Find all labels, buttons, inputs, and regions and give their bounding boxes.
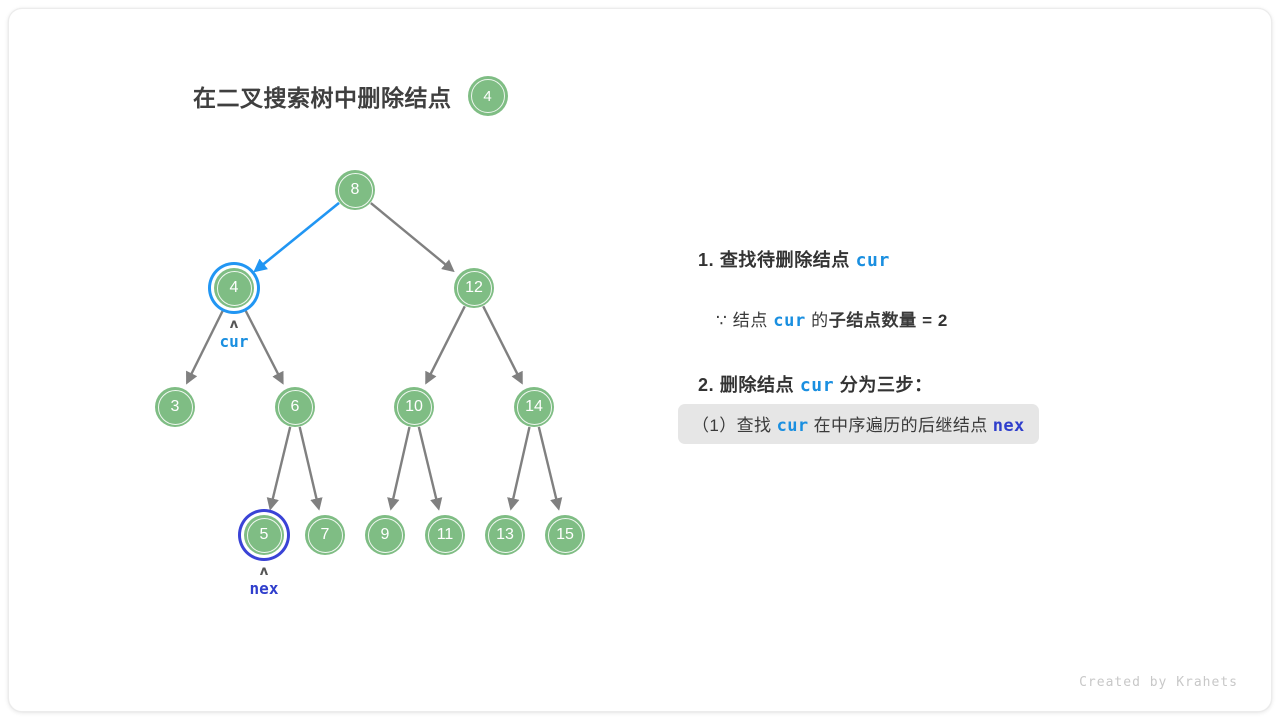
step-2-var-cur: cur (800, 375, 834, 396)
step-1-line: 1. 查找待删除结点 cur (698, 246, 890, 272)
tree-node-value: 4 (230, 280, 239, 296)
tree-node-value: 15 (556, 527, 574, 543)
reason-emphasis: 子结点数量 (829, 311, 917, 330)
tree-node-4[interactable]: 4 (214, 268, 254, 308)
tree-node-value: 6 (291, 399, 300, 415)
tree-node-10[interactable]: 10 (394, 387, 434, 427)
tree-node-value: 7 (321, 527, 330, 543)
substep-1-index: （1） (692, 416, 737, 435)
reason-operator: = (922, 311, 933, 330)
step-2-line: 2. 删除结点 cur 分为三步： (698, 371, 933, 397)
step-2-suffix: 分为三步： (840, 375, 933, 395)
title-step-badge: 4 (468, 76, 508, 116)
tree-node-14[interactable]: 14 (514, 387, 554, 427)
pointer-label-text: nex (250, 581, 279, 597)
pointer-label-cur: ʌcur (199, 318, 269, 350)
tree-node-value: 12 (465, 280, 483, 296)
tree-node-value: 10 (405, 399, 423, 415)
reason-value: 2 (938, 311, 948, 330)
page-title: 在二叉搜索树中删除结点 (193, 79, 452, 113)
tree-node-3[interactable]: 3 (155, 387, 195, 427)
title-step-badge-value: 4 (483, 88, 491, 105)
tree-node-6[interactable]: 6 (275, 387, 315, 427)
tree-node-9[interactable]: 9 (365, 515, 405, 555)
step-1-var-cur: cur (856, 250, 890, 271)
pointer-label-nex: ʌnex (229, 565, 299, 597)
reason-var-cur: cur (773, 311, 806, 331)
tree-node-value: 11 (437, 527, 454, 543)
substep-1-var-cur: cur (777, 416, 809, 436)
tree-node-value: 8 (351, 182, 360, 198)
diagram-canvas: 在二叉搜索树中删除结点 4 8412361014579111315 ʌcurʌn… (0, 0, 1280, 720)
substep-1-highlight: （1）查找 cur 在中序遍历的后继结点 nex (678, 404, 1039, 444)
tree-node-11[interactable]: 11 (425, 515, 465, 555)
pointer-caret-icon: ʌ (230, 318, 238, 331)
reason-part-2: 的 (811, 311, 829, 330)
pointer-label-text: cur (220, 334, 249, 350)
tree-node-value: 3 (171, 399, 180, 415)
pointer-caret-icon: ʌ (260, 565, 268, 578)
tree-node-5[interactable]: 5 (244, 515, 284, 555)
tree-node-7[interactable]: 7 (305, 515, 345, 555)
tree-node-12[interactable]: 12 (454, 268, 494, 308)
substep-1-var-nex: nex (993, 416, 1025, 436)
substep-1-part-1: 查找 (737, 416, 772, 435)
step-2-text: 2. 删除结点 (698, 375, 794, 395)
title-row: 在二叉搜索树中删除结点 4 (193, 76, 508, 116)
tree-node-value: 9 (381, 527, 390, 543)
reason-part-1: 结点 (733, 311, 768, 330)
step-1-text: 1. 查找待删除结点 (698, 250, 850, 270)
tree-node-13[interactable]: 13 (485, 515, 525, 555)
substep-1-part-2: 在中序遍历的后继结点 (814, 416, 988, 435)
tree-node-value: 5 (260, 527, 269, 543)
reason-line: ∵ 结点 cur 的子结点数量 = 2 (716, 306, 948, 331)
footer-credit: Created by Krahets (1079, 675, 1238, 690)
tree-node-value: 13 (496, 527, 514, 543)
tree-node-15[interactable]: 15 (545, 515, 585, 555)
tree-node-8[interactable]: 8 (335, 170, 375, 210)
because-symbol: ∵ (716, 311, 727, 330)
tree-node-value: 14 (525, 399, 543, 415)
